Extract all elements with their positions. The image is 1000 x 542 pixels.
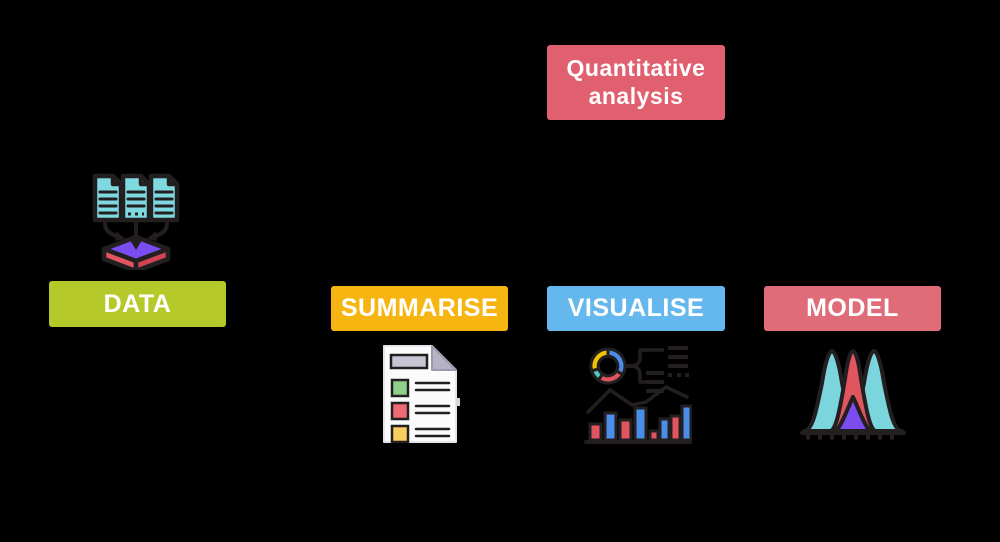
model-box[interactable]: MODEL <box>764 286 941 331</box>
quantitative-analysis-label-line2: analysis <box>589 83 684 110</box>
documents-into-stack-icon <box>83 170 193 270</box>
summarise-box[interactable]: SUMMARISE <box>331 286 508 331</box>
distribution-curves-icon <box>800 343 906 443</box>
model-label: MODEL <box>806 294 899 323</box>
summarise-label: SUMMARISE <box>341 294 498 323</box>
diagram-canvas: Quantitative analysis <box>0 0 1000 542</box>
checklist-document-icon <box>378 342 462 446</box>
visualise-label: VISUALISE <box>568 294 704 323</box>
quantitative-analysis-box[interactable]: Quantitative analysis <box>547 45 725 120</box>
data-label: DATA <box>104 290 172 319</box>
visualise-box[interactable]: VISUALISE <box>547 286 725 331</box>
quantitative-analysis-label-line1: Quantitative <box>567 55 706 82</box>
data-box[interactable]: DATA <box>49 281 226 327</box>
dashboard-charts-icon <box>582 340 692 446</box>
